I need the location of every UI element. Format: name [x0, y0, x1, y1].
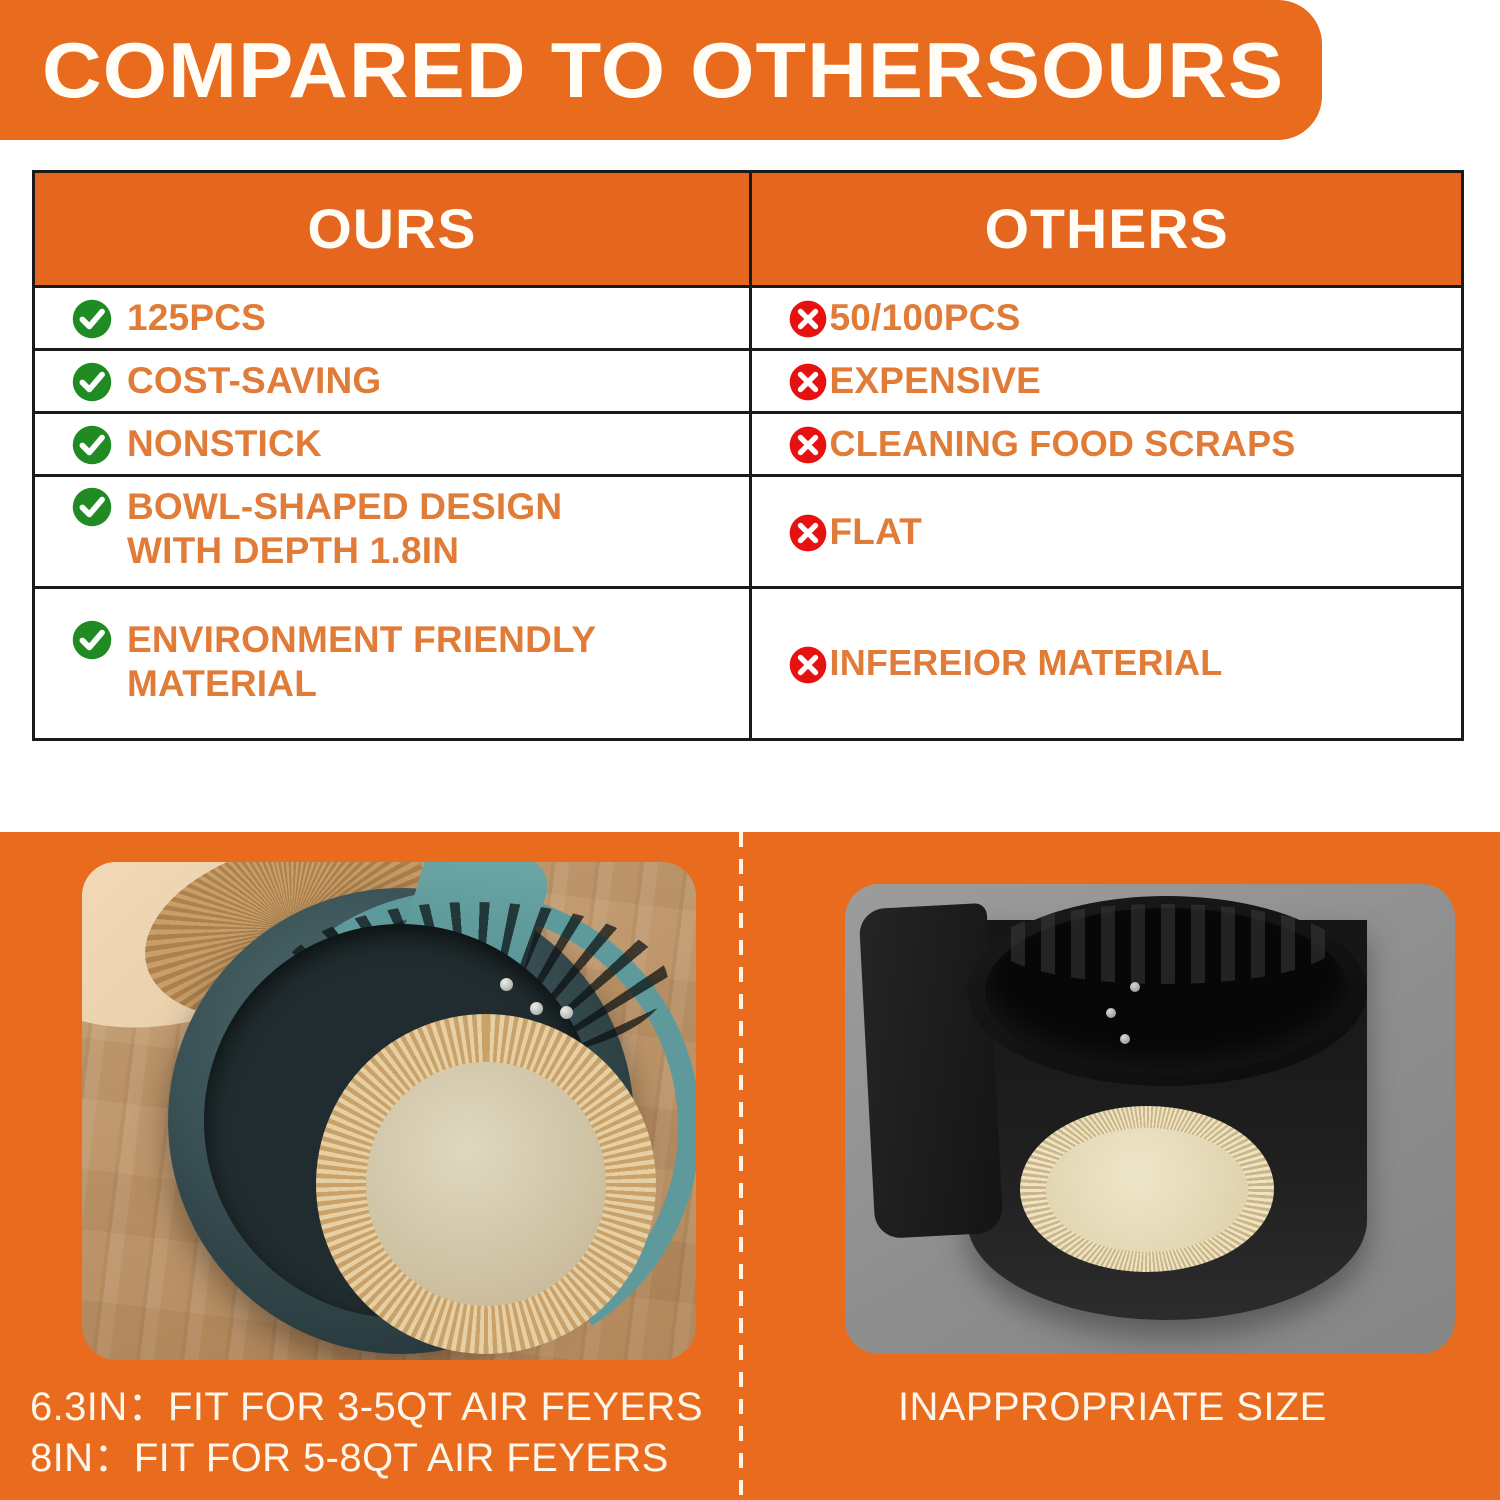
ours-cell: ENVIRONMENT FRIENDLY MATERIAL	[35, 589, 752, 738]
feature-item: 50/100PCS	[788, 296, 1021, 340]
others-cell: INFEREIOR MATERIAL	[752, 589, 1462, 738]
x-circle-icon	[788, 425, 828, 465]
feature-item: COST-SAVING	[71, 359, 381, 403]
black-vent-slots	[995, 904, 1335, 984]
page-title: COMPARED TO OTHERSOURS	[42, 31, 1284, 109]
feature-item: EXPENSIVE	[788, 359, 1042, 403]
others-header-label: OTHERS	[984, 201, 1228, 257]
feature-label: EXPENSIVE	[830, 359, 1042, 403]
others-product-photo	[845, 884, 1455, 1354]
feature-label: 50/100PCS	[830, 296, 1021, 340]
feature-label: FLAT	[830, 510, 923, 554]
ours-cell: 125PCS	[35, 288, 752, 348]
table-row: BOWL-SHAPED DESIGN WITH DEPTH 1.8IN FLAT	[35, 474, 1461, 586]
comparison-table: OURS OTHERS 125PCS 50/100PCS	[32, 170, 1464, 741]
basket-rivets	[1100, 982, 1150, 1052]
check-circle-icon	[71, 424, 113, 466]
x-circle-icon	[788, 299, 828, 339]
feature-label: BOWL-SHAPED DESIGN WITH DEPTH 1.8IN	[127, 485, 562, 572]
others-cell: FLAT	[752, 477, 1462, 586]
table-header-row: OURS OTHERS	[35, 173, 1461, 285]
ours-cell: COST-SAVING	[35, 351, 752, 411]
feature-item: FLAT	[788, 510, 923, 554]
column-header-ours: OURS	[35, 173, 752, 285]
table-row: COST-SAVING EXPENSIVE	[35, 348, 1461, 411]
x-circle-icon	[788, 645, 828, 685]
undersized-paper-liner	[1020, 1106, 1274, 1272]
x-circle-icon	[788, 362, 828, 402]
column-header-others: OTHERS	[752, 173, 1462, 285]
ours-header-label: OURS	[307, 201, 476, 257]
liner-base-surface	[366, 1062, 606, 1306]
check-circle-icon	[71, 619, 113, 661]
small-liner-base-surface	[1046, 1128, 1248, 1252]
feature-item: 125PCS	[71, 296, 266, 340]
table-row: ENVIRONMENT FRIENDLY MATERIAL INFEREIOR …	[35, 586, 1461, 738]
check-circle-icon	[71, 298, 113, 340]
table-row: 125PCS 50/100PCS	[35, 285, 1461, 348]
table-row: NONSTICK CLEANING FOOD SCRAPS	[35, 411, 1461, 474]
check-circle-icon	[71, 361, 113, 403]
header-banner: COMPARED TO OTHERSOURS	[0, 0, 1322, 140]
feature-item: ENVIRONMENT FRIENDLY MATERIAL	[71, 618, 596, 705]
feature-item: CLEANING FOOD SCRAPS	[788, 423, 1296, 465]
teal-air-fryer-basket	[168, 888, 634, 1354]
others-cell: 50/100PCS	[752, 288, 1462, 348]
ours-cell: BOWL-SHAPED DESIGN WITH DEPTH 1.8IN	[35, 477, 752, 586]
feature-item: NONSTICK	[71, 422, 322, 466]
others-photo-caption: INAPPROPRIATE SIZE	[898, 1382, 1458, 1433]
feature-label: INFEREIOR MATERIAL	[830, 642, 1223, 684]
basket-screws	[500, 978, 586, 1036]
feature-label: CLEANING FOOD SCRAPS	[830, 423, 1296, 465]
check-circle-icon	[71, 486, 113, 528]
others-cell: CLEANING FOOD SCRAPS	[752, 414, 1462, 474]
fluted-paper-liner	[316, 1014, 656, 1354]
feature-label: 125PCS	[127, 296, 266, 340]
feature-item: INFEREIOR MATERIAL	[788, 642, 1223, 684]
gallery-dashed-divider	[739, 832, 743, 1500]
others-cell: EXPENSIVE	[752, 351, 1462, 411]
feature-label: NONSTICK	[127, 422, 322, 466]
ours-product-photo	[82, 862, 696, 1360]
x-circle-icon	[788, 513, 828, 553]
ours-cell: NONSTICK	[35, 414, 752, 474]
feature-label: ENVIRONMENT FRIENDLY MATERIAL	[127, 618, 596, 705]
feature-label: COST-SAVING	[127, 359, 381, 403]
ours-photo-caption: 6.3IN：FIT FOR 3-5QT AIR FEYERS 8IN：FIT F…	[30, 1382, 720, 1484]
feature-item: BOWL-SHAPED DESIGN WITH DEPTH 1.8IN	[71, 485, 562, 572]
